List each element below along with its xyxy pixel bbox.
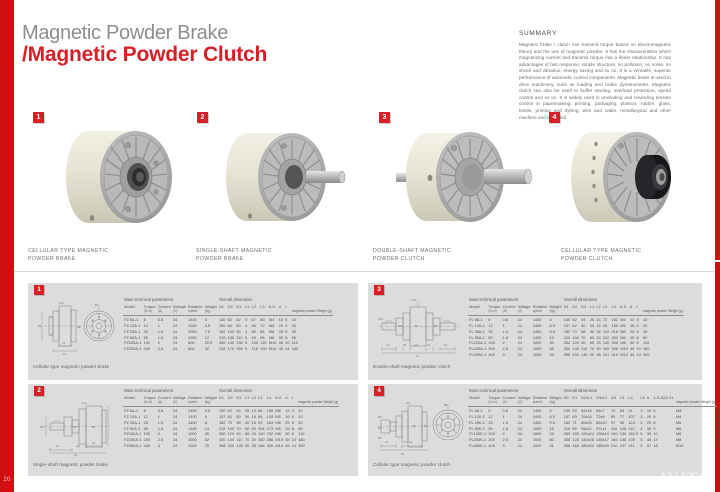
svg-text:D1: D1 <box>424 424 428 428</box>
svg-text:L1: L1 <box>444 343 448 347</box>
product-photo-4 <box>561 118 711 241</box>
group-powder-1-l2: powder <box>306 309 316 313</box>
cell-value: 197 <box>619 443 628 450</box>
drawing-caption-1: Cellular type magnetic powder brake <box>33 364 110 369</box>
cell-value: 115 <box>250 347 259 354</box>
group-main-3: Main technical parameters <box>468 297 563 304</box>
spec-table-4: Main technical parameters Overall dimens… <box>468 388 720 450</box>
cell-value: 24 <box>517 352 532 359</box>
group-powder-2-l3: Weight <box>323 400 333 404</box>
spec-badge-4: 4 <box>374 386 384 396</box>
col-d1-2: D1 <box>218 395 227 407</box>
col-model-2: Model <box>123 395 143 407</box>
summary-heading: SUMMARY <box>519 30 671 37</box>
technical-drawing-4: 6-S D2 D3 D4 D0 D1 L3 L4 L5 D0 <box>378 398 466 456</box>
col-d1-3: D1 <box>563 304 572 316</box>
drawing-caption-4: Cellular type magnetic powder clutch <box>373 462 450 467</box>
right-red-edge-bottom <box>715 262 720 492</box>
cell-value: M4 <box>675 407 717 414</box>
svg-text:L1: L1 <box>386 343 390 347</box>
product-caption-2-line1: SINGLE-SHAFT MAGNETIC <box>196 248 272 256</box>
cell-value: 400 <box>487 352 501 359</box>
svg-text:6-S: 6-S <box>406 401 410 405</box>
cell-value: 398 <box>563 352 572 359</box>
cell-value: 10 <box>297 407 339 414</box>
cell-value: 180x30 <box>580 443 595 450</box>
col-rotation-2: Rotationspeed <box>187 395 204 407</box>
product-badge-4: 4 <box>549 112 560 123</box>
product-caption-4-line1: CELLULAR TYPE MAGNETIC <box>561 248 641 256</box>
col-t-1: t <box>284 304 291 316</box>
spec-table-1-wrap: Main technical parameters Overall dimens… <box>123 297 333 354</box>
svg-text:L3: L3 <box>92 441 96 445</box>
spec-table-1: Main technical parameters Overall dimens… <box>123 297 333 354</box>
group-powder-2-l4: (g) <box>334 400 338 404</box>
cell-value: 5 <box>652 407 675 414</box>
svg-text:L4: L4 <box>416 354 420 357</box>
page-number: 20 <box>0 468 14 492</box>
col-current-2: Current(A) <box>157 395 172 407</box>
cell-value: 1000 <box>187 443 204 450</box>
cell-model: FZ400A-1 <box>123 443 143 450</box>
cell-model: FL400A-1 <box>468 352 487 359</box>
col-d0-4: D0 <box>563 395 572 407</box>
svg-text:L2: L2 <box>403 343 407 347</box>
col-torque-2: Torque(N.m) <box>143 395 157 407</box>
svg-text:D0: D0 <box>444 403 448 407</box>
product-caption-3-line1: DOUBLE-SHAFT MAGNETIC <box>373 248 451 256</box>
cell-value: M14 <box>274 443 284 450</box>
col-d1-4: D1 <box>571 395 580 407</box>
cell-value: 2.6 <box>157 347 172 354</box>
col-l4-4: L4 <box>627 395 639 407</box>
drawing-caption-2: Single-shaft magnetic powder brake <box>33 462 108 467</box>
col-d2l1-4: D2xL1 <box>580 395 595 407</box>
col-t-3: t <box>635 304 642 316</box>
cell-value: 200 <box>227 443 236 450</box>
col-6s-3: 6-S <box>619 304 629 316</box>
product-caption-1: CELLULAR TYPE MAGNETIC POWDER BRAKE <box>28 248 108 263</box>
product-caption-4: CELLULAR TYPE MAGNETIC POWDER CLUTCH <box>561 248 641 263</box>
col-l3-1: L3 <box>259 304 268 316</box>
col-model-4: Model <box>468 395 487 407</box>
cell-value: 75 <box>204 443 218 450</box>
svg-text:D1: D1 <box>415 324 419 328</box>
col-voltage-4: Voltage(V) <box>517 395 532 407</box>
col-rotation-4: Rotationspeed <box>532 395 549 407</box>
right-red-edge-top <box>715 0 720 260</box>
spec-table-2: Main technical parameters Overall dimens… <box>123 388 339 450</box>
cell-value: 326 <box>266 443 275 450</box>
col-d4-4: D4 <box>610 395 619 407</box>
col-torque-3: Torque(N.m) <box>487 304 501 316</box>
group-powder-3-l2: powder <box>657 309 667 313</box>
cell-value: 211 <box>627 443 639 450</box>
col-d3-1: D3 <box>235 304 244 316</box>
col-d3l2-4: D3xL2 <box>595 395 610 407</box>
col-model-3: Model <box>468 304 487 316</box>
product-badge-3: 3 <box>379 112 390 123</box>
cell-value: M12 <box>619 352 629 359</box>
table-row: FL 6K-160.624140041305062x1665x770649131… <box>468 407 720 414</box>
cell-value: 91 <box>548 443 562 450</box>
technical-drawing-1: 6-S D1 L3 L1 D3 D2 <box>38 297 116 357</box>
svg-text:L1: L1 <box>62 341 66 345</box>
cell-model: FZ200A-1 <box>123 347 143 354</box>
cell-value: 3 <box>501 443 516 450</box>
spec-table-2-body: FZ 6A-160.62414003.51306244251068108M612… <box>123 407 339 450</box>
cell-value: 200 <box>571 352 580 359</box>
cell-value: 160 <box>571 443 580 450</box>
cell-value: M10 <box>268 347 278 354</box>
technical-drawing-2: 6-S D2 D3 D1 L1 L2 L3 L4 <box>38 398 116 456</box>
group-main-4: Main technical parameters <box>468 388 563 395</box>
cell-value: 130 <box>259 347 268 354</box>
table-row: FZ400A-14003241000753982001309035168326M… <box>123 443 339 450</box>
cell-value: 221 <box>602 352 611 359</box>
product-caption-3-line2: POWDER CLUTCH <box>373 256 451 264</box>
col-voltage-2: Voltage(V) <box>172 395 187 407</box>
cell-value: 300 <box>297 443 339 450</box>
product-caption-4-line2: POWDER CLUTCH <box>561 256 641 264</box>
col-l3-2: L3 <box>257 395 266 407</box>
svg-text:L4: L4 <box>409 440 413 444</box>
cell-value: 10 <box>291 316 333 323</box>
cell-value: 3 <box>157 443 172 450</box>
cell-value: 94 <box>548 352 562 359</box>
svg-text:D4: D4 <box>378 436 382 440</box>
cell-value: 1000 <box>532 352 549 359</box>
group-powder-2-l2: powder <box>312 400 322 404</box>
section-divider <box>14 271 715 272</box>
svg-text:L3: L3 <box>385 440 389 444</box>
svg-text:D2: D2 <box>77 325 81 329</box>
group-powder-2: magnetic powder Weight (g) <box>297 388 339 407</box>
spec-table-4-body: FL 6K-160.624140041305062x1665x770649131… <box>468 407 720 450</box>
cell-value: 32 <box>204 347 218 354</box>
table-row: FL400K-1400324100091398160180x30185x2021… <box>468 443 720 450</box>
svg-text:D2: D2 <box>40 425 44 429</box>
svg-text:D1: D1 <box>38 324 42 328</box>
cell-value: 168 <box>257 443 266 450</box>
product-caption-2-line2: POWDER BRAKE <box>196 256 272 264</box>
page-title-line1: Magnetic Powder Brake <box>22 22 267 45</box>
spec-table-3-wrap: Main technical parameters Overall dimens… <box>468 297 684 359</box>
cell-value: 800 <box>187 347 204 354</box>
col-torque-1: Torque(N.m) <box>143 304 157 316</box>
col-weight-2: Weight(kg) <box>204 395 218 407</box>
product-caption-3: DOUBLE-SHAFT MAGNETIC POWDER CLUTCH <box>373 248 451 263</box>
group-powder-4-l1: magnetic <box>676 400 689 404</box>
col-rotation-1: Rotationspeed <box>187 304 204 316</box>
cell-value: 400 <box>487 443 501 450</box>
cell-value: 400 <box>143 443 157 450</box>
svg-text:6-S: 6-S <box>59 301 63 305</box>
svg-text:L2: L2 <box>427 343 431 347</box>
svg-text:2×d: 2×d <box>378 317 383 321</box>
group-powder-4-l4: (g) <box>712 400 716 404</box>
col-weight-1: Weight(kg) <box>204 304 218 316</box>
svg-text:D3: D3 <box>95 303 99 307</box>
col-d3-2: D3 <box>235 395 244 407</box>
page-spine <box>0 0 14 492</box>
product-photo-3 <box>392 118 552 241</box>
technical-drawing-3: 6-S 2×d D3 D1 D2 L1 L2 L3 L2 L1 L4 <box>378 297 460 357</box>
svg-text:D0: D0 <box>412 424 416 428</box>
cell-value: 24 <box>172 443 187 450</box>
spec-badge-2: 2 <box>34 386 44 396</box>
spec-table-2-wrap: Main technical parameters Overall dimens… <box>123 388 339 450</box>
spec-table-4-wrap: Main technical parameters Overall dimens… <box>468 388 720 450</box>
col-t-2: t <box>291 395 298 407</box>
svg-text:D1: D1 <box>92 425 96 429</box>
svg-text:L1: L1 <box>56 444 60 448</box>
cell-value: 398 <box>563 443 572 450</box>
col-torque-4: Torque(N.m) <box>487 395 501 407</box>
product-badge-2: 2 <box>197 112 208 123</box>
svg-text:L3: L3 <box>415 343 419 347</box>
group-powder-1-l1: magnetic <box>292 309 305 313</box>
col-6s-2: 6-S <box>274 395 284 407</box>
cell-value: 1000 <box>532 443 549 450</box>
svg-text:D2: D2 <box>378 415 382 419</box>
table-row: FZ200A-12002.624800322351701505115130M10… <box>123 347 333 354</box>
col-d2-2: D2 <box>227 395 236 407</box>
cell-value: 398 <box>218 443 227 450</box>
svg-text:L4: L4 <box>74 453 78 456</box>
product-caption-1-line1: CELLULAR TYPE MAGNETIC <box>28 248 108 256</box>
cell-value: 130 <box>580 352 589 359</box>
cell-model: FL400K-1 <box>468 443 487 450</box>
cell-value: 24 <box>517 443 532 450</box>
col-current-1: Current(A) <box>157 304 172 316</box>
cell-value: 200 <box>143 347 157 354</box>
spec-table-1-body: FZ 6A-160.62414003130626235760M416510FZ … <box>123 316 333 354</box>
cell-value: 160 <box>291 347 333 354</box>
table-row: FL400A-14003241000943982001309035221510M… <box>468 352 684 359</box>
cell-value: 235 <box>218 347 227 354</box>
cell-value: 3 <box>501 352 516 359</box>
col-s-4: 1-S-S26-S1 <box>652 395 675 407</box>
svg-text:L3: L3 <box>63 352 67 356</box>
product-photo-2 <box>214 118 364 241</box>
cell-value: 300 <box>642 352 684 359</box>
group-powder-3-l3: Weight <box>668 309 678 313</box>
col-l4-2: L4 <box>266 395 275 407</box>
catalog-page: 20 Magnetic Powder Brake /Magnetic Powde… <box>0 0 720 492</box>
cell-value: 24 <box>172 347 187 354</box>
product-photo-1 <box>52 118 202 241</box>
group-powder-1: magnetic powder Weight (g) <box>291 297 333 316</box>
product-caption-1-line2: POWDER BRAKE <box>28 256 108 264</box>
cell-value: 10 <box>642 316 684 323</box>
svg-text:L2: L2 <box>76 444 80 448</box>
group-powder-3: magnetic powder Weight (g) <box>642 297 684 316</box>
spec-badge-3: 3 <box>374 285 384 295</box>
svg-text:6-S: 6-S <box>82 401 86 405</box>
col-weight-4: Weight(kg) <box>548 395 562 407</box>
spec-badge-1: 1 <box>34 285 44 295</box>
col-l3-4: L3 <box>619 395 628 407</box>
svg-text:6-S: 6-S <box>412 298 416 302</box>
group-powder-3-l4: (g) <box>679 309 683 313</box>
col-d3-3: D3 <box>580 304 589 316</box>
cell-value: 18 <box>652 443 675 450</box>
summary-body: Magnetic brake / clutch can transmit tor… <box>519 42 671 121</box>
group-powder-4-l2: powder <box>690 400 700 404</box>
svg-text:D3: D3 <box>73 425 77 429</box>
cell-value: 150 <box>235 347 244 354</box>
product-badge-1: 1 <box>33 112 44 123</box>
col-current-4: Current(A) <box>501 395 516 407</box>
cell-value: 170 <box>227 347 236 354</box>
group-powder-1-l4: (g) <box>328 309 332 313</box>
group-powder-1-l3: Weight <box>317 309 327 313</box>
col-voltage-3: Voltage(V) <box>517 304 532 316</box>
product-caption-2: SINGLE-SHAFT MAGNETIC POWDER BRAKE <box>196 248 272 263</box>
cell-value: 510 <box>610 352 619 359</box>
cell-value: M10 <box>675 443 717 450</box>
cell-value: 210 <box>610 443 619 450</box>
svg-text:L5: L5 <box>401 452 405 456</box>
col-d2-1: D2 <box>227 304 236 316</box>
col-6s-1: 6-S <box>268 304 278 316</box>
spec-table-3: Main technical parameters Overall dimens… <box>468 297 684 359</box>
col-current-3: Current(A) <box>501 304 516 316</box>
col-l3-3: L3 <box>602 304 611 316</box>
summary-block: SUMMARY Magnetic brake / clutch can tran… <box>519 30 671 121</box>
page-title: Magnetic Powder Brake /Magnetic Powder C… <box>22 22 267 67</box>
col-l2-1: L2 <box>250 304 259 316</box>
cell-value: 185x20 <box>595 443 610 450</box>
group-powder-2-l1: magnetic <box>298 400 311 404</box>
drawing-caption-3: Double-shaft magnetic powder clutch <box>373 364 451 369</box>
col-d2-3: D2 <box>571 304 580 316</box>
col-rotation-3: Rotationspeed <box>532 304 549 316</box>
spec-table-3-body: FL 6A-160.624140041306244251572152M41241… <box>468 316 684 359</box>
col-voltage-1: Voltage(V) <box>172 304 187 316</box>
svg-text:D3: D3 <box>398 324 402 328</box>
col-weight-3: Weight(kg) <box>548 304 562 316</box>
cell-value: 130 <box>235 443 244 450</box>
col-l4-3: L4 <box>610 304 619 316</box>
group-powder-4: magnetic powder Weight (g) <box>675 388 717 407</box>
group-powder-4-l3: Weight <box>701 400 711 404</box>
col-model-1: Model <box>123 304 143 316</box>
svg-text:D3: D3 <box>378 426 382 430</box>
col-d1-1: D1 <box>218 304 227 316</box>
group-powder-3-l1: magnetic <box>643 309 656 313</box>
svg-text:D2: D2 <box>434 324 438 328</box>
page-title-line2: /Magnetic Powder Clutch <box>22 43 267 67</box>
